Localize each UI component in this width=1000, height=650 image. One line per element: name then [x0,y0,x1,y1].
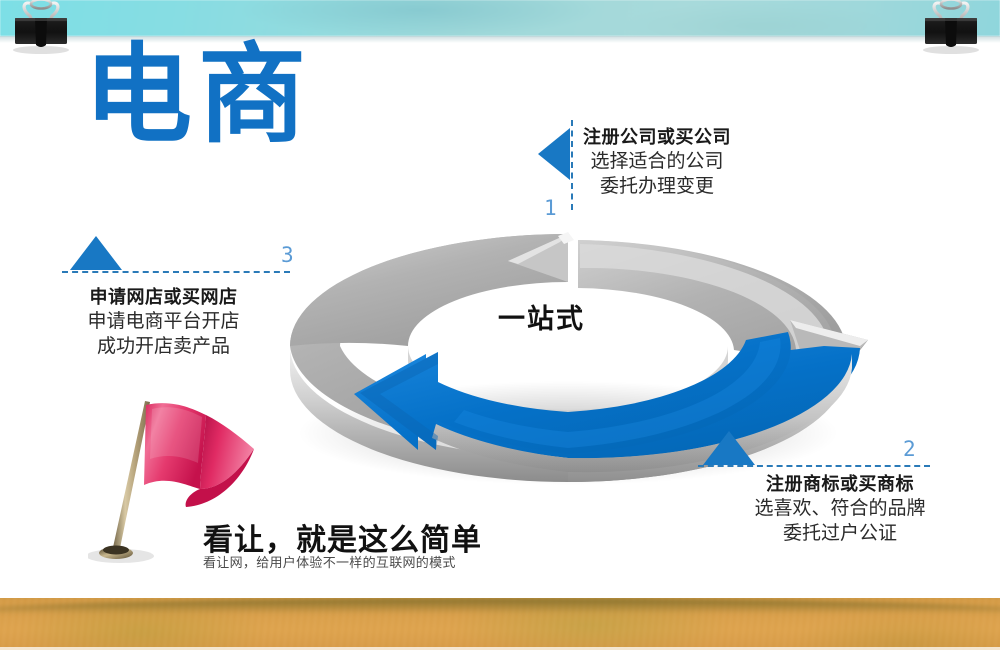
callout-2-number: 2 [903,437,916,461]
callout-2-heading: 注册商标或买商标 [726,470,954,496]
poster-canvas: 电商 [0,0,1000,650]
callout-3-line-1: 申请电商平台开店 [56,309,271,334]
callout-1-line-2: 委托办理变更 [583,174,731,199]
callout-3: 申请网店或买网店 申请电商平台开店 成功开店卖产品 [56,283,271,359]
callout-3-line-2: 成功开店卖产品 [56,334,271,359]
callout-1: 注册公司或买公司 选择适合的公司 委托办理变更 [583,123,731,199]
callout-1-triangle-icon [538,128,570,180]
callout-1-line-1: 选择适合的公司 [583,149,731,174]
callout-3-dashed-line [62,271,290,273]
callout-3-heading: 申请网店或买网店 [56,283,271,309]
callout-3-triangle-icon [70,236,122,270]
page-title: 电商 [84,42,312,150]
callout-2-line-2: 委托过户公证 [726,521,954,546]
binder-clip-left [10,0,72,56]
callout-2: 注册商标或买商标 选喜欢、符合的品牌 委托过户公证 [726,470,954,546]
callout-2-line-1: 选喜欢、符合的品牌 [726,496,954,521]
callout-1-dashed-line [571,120,573,210]
callout-1-heading: 注册公司或买公司 [583,123,731,149]
bottom-field-band [0,598,1000,650]
cycle-center-label: 一站式 [498,297,585,336]
callout-2-dashed-line [698,465,930,467]
top-sky-band [0,0,1000,36]
cycle-diagram [268,228,868,488]
slogan-sub: 看让网，给用户体验不一样的互联网的模式 [203,552,456,571]
callout-3-number: 3 [281,243,294,267]
binder-clip-right [920,0,982,56]
callout-1-number: 1 [544,196,557,220]
callout-2-triangle-icon [703,431,755,465]
